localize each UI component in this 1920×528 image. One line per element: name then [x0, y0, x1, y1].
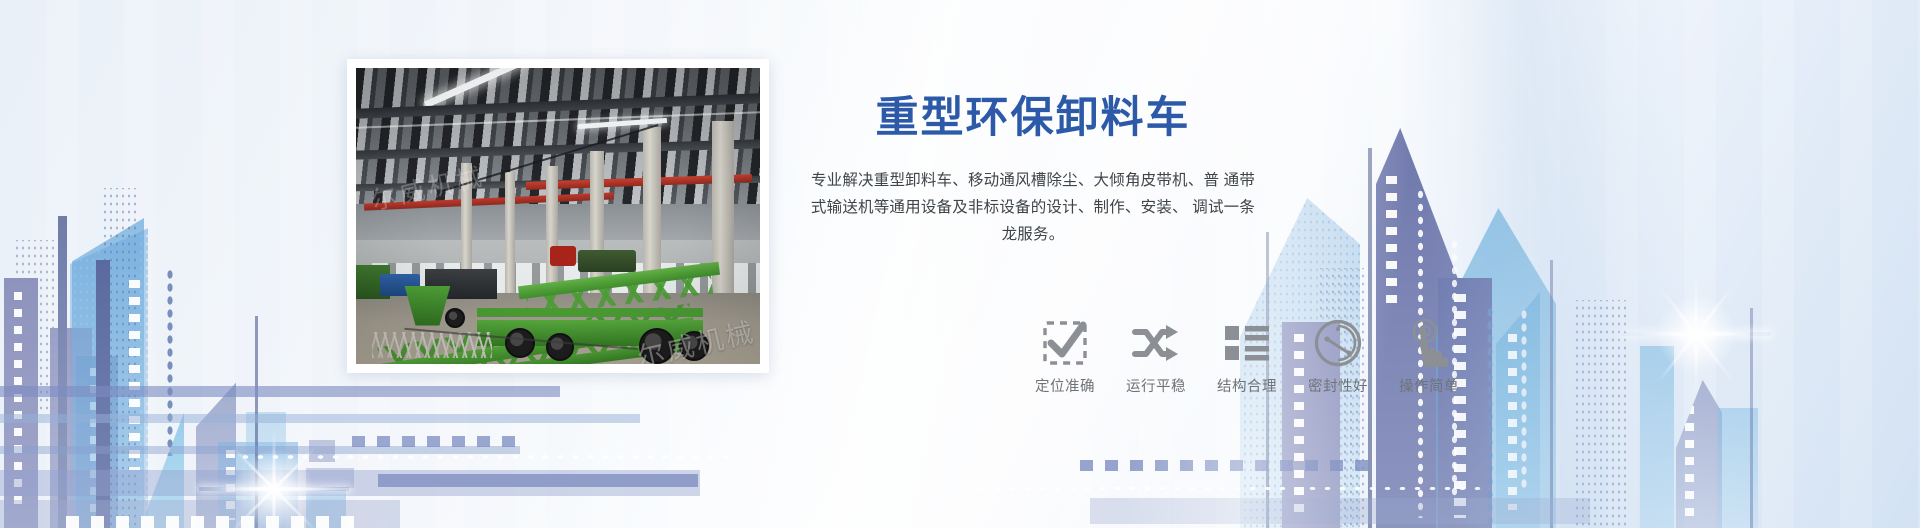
feature-item-positioning[interactable]: 定位准确 — [1022, 318, 1108, 396]
background-vertical-dot-strip — [166, 268, 174, 456]
photo-vignette — [356, 68, 760, 364]
dashed-square-check-icon — [1022, 318, 1108, 368]
hero-text-block: 重型环保卸料车 专业解决重型卸料车、移动通风槽除尘、大倾角皮带机、普 通带式输送… — [810, 95, 1256, 248]
feature-item-structure[interactable]: 结构合理 — [1204, 318, 1290, 396]
background-light-flare — [1694, 332, 1698, 336]
shuffle-arrows-icon — [1113, 318, 1199, 368]
skyline-building — [1676, 380, 1722, 528]
hero-banner: 尔威机械 尔威机械 重型环保卸料车 专业解决重型卸料车、移动通风槽除尘、大倾角皮… — [0, 0, 1920, 528]
feature-item-stability[interactable]: 运行平稳 — [1113, 318, 1199, 396]
seal-circle-icon — [1295, 318, 1381, 368]
background-dashed-strip — [1080, 460, 1370, 471]
background-dashed-strip — [352, 436, 522, 447]
hand-touch-icon — [1386, 318, 1472, 368]
building-window-column — [1685, 406, 1694, 518]
skyline-building — [1572, 300, 1628, 528]
page-subtitle: 专业解决重型卸料车、移动通风槽除尘、大倾角皮带机、普 通带式输送机等通用设备及非… — [810, 168, 1256, 248]
background-vertical-dot-strip — [1486, 306, 1494, 528]
flare-ray — [273, 429, 276, 528]
background-vertical-dot-strip — [1520, 308, 1528, 488]
building-window-column — [1386, 176, 1397, 306]
product-photo: 尔威机械 尔威机械 — [356, 68, 760, 364]
list-blocks-icon — [1204, 318, 1290, 368]
flare-ray — [214, 488, 334, 491]
subtitle-line: 专业解决重型卸料车、移动通风槽除尘、大倾角皮带机、普 — [811, 172, 1219, 189]
feature-item-sealing[interactable]: 密封性好 — [1295, 318, 1381, 396]
product-photo-card: 尔威机械 尔威机械 — [347, 59, 769, 373]
feature-label: 密封性好 — [1295, 375, 1381, 396]
feature-list: 定位准确 运行平稳 — [1022, 318, 1472, 396]
background-dot-strip — [930, 484, 1490, 493]
flare-ray — [1695, 274, 1698, 394]
background-horizontal-bar — [1090, 498, 1590, 524]
building-window-column — [129, 280, 140, 470]
background-light-flare — [272, 487, 276, 491]
feature-label: 运行平稳 — [1113, 375, 1199, 396]
skyline-antenna — [1550, 260, 1553, 528]
building-window-grid — [1572, 300, 1628, 528]
page-title: 重型环保卸料车 — [810, 95, 1256, 142]
feature-label: 结构合理 — [1204, 375, 1290, 396]
building-window-column — [1508, 334, 1517, 510]
feature-item-operation[interactable]: 操作简单 — [1386, 318, 1472, 396]
background-city-skyline-right — [1220, 58, 1920, 528]
background-horizontal-bar — [378, 474, 698, 487]
flare-ray — [1636, 333, 1756, 336]
background-horizontal-bar — [0, 386, 560, 397]
feature-label: 操作简单 — [1386, 375, 1472, 396]
background-horizontal-bar — [0, 414, 640, 423]
feature-label: 定位准确 — [1022, 375, 1108, 396]
